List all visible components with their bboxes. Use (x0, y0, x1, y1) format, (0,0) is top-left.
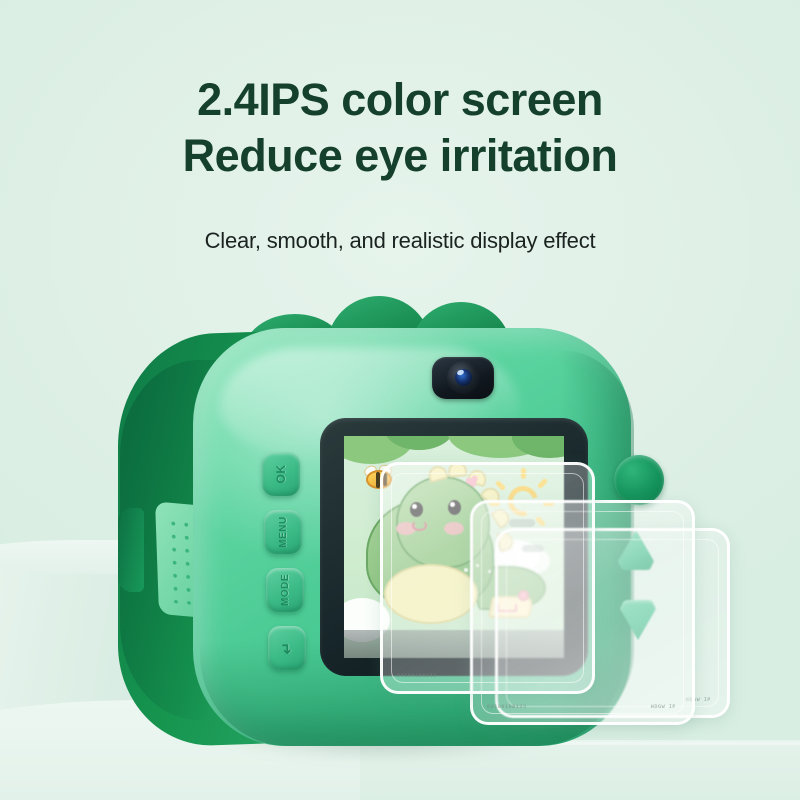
bee-stripe-1 (376, 472, 380, 488)
shutter-button[interactable] (614, 455, 664, 505)
mode-button[interactable]: MODE (266, 568, 304, 612)
protector-microtext-left: 8010010B133 (397, 673, 437, 679)
power-ok-button-label: OK (259, 455, 303, 493)
camera-side-tab (118, 508, 144, 592)
menu-button-label: MENU (261, 513, 305, 551)
protector-inner-outline (391, 473, 584, 683)
mode-button-label: MODE (263, 571, 307, 609)
product-marketing-image: 2.4IPS color screen Reduce eye irritatio… (0, 0, 800, 800)
protector-microtext-right: HDGW IP (651, 704, 676, 710)
back-button[interactable]: ↵ (268, 626, 306, 670)
screen-protector-front: 8010010B133 (380, 462, 595, 694)
menu-button[interactable]: MENU (264, 510, 302, 554)
power-ok-button[interactable]: OK (262, 452, 300, 496)
back-button-label: ↵ (265, 629, 309, 667)
protector-microtext-left: 8010010B133 (487, 704, 527, 710)
